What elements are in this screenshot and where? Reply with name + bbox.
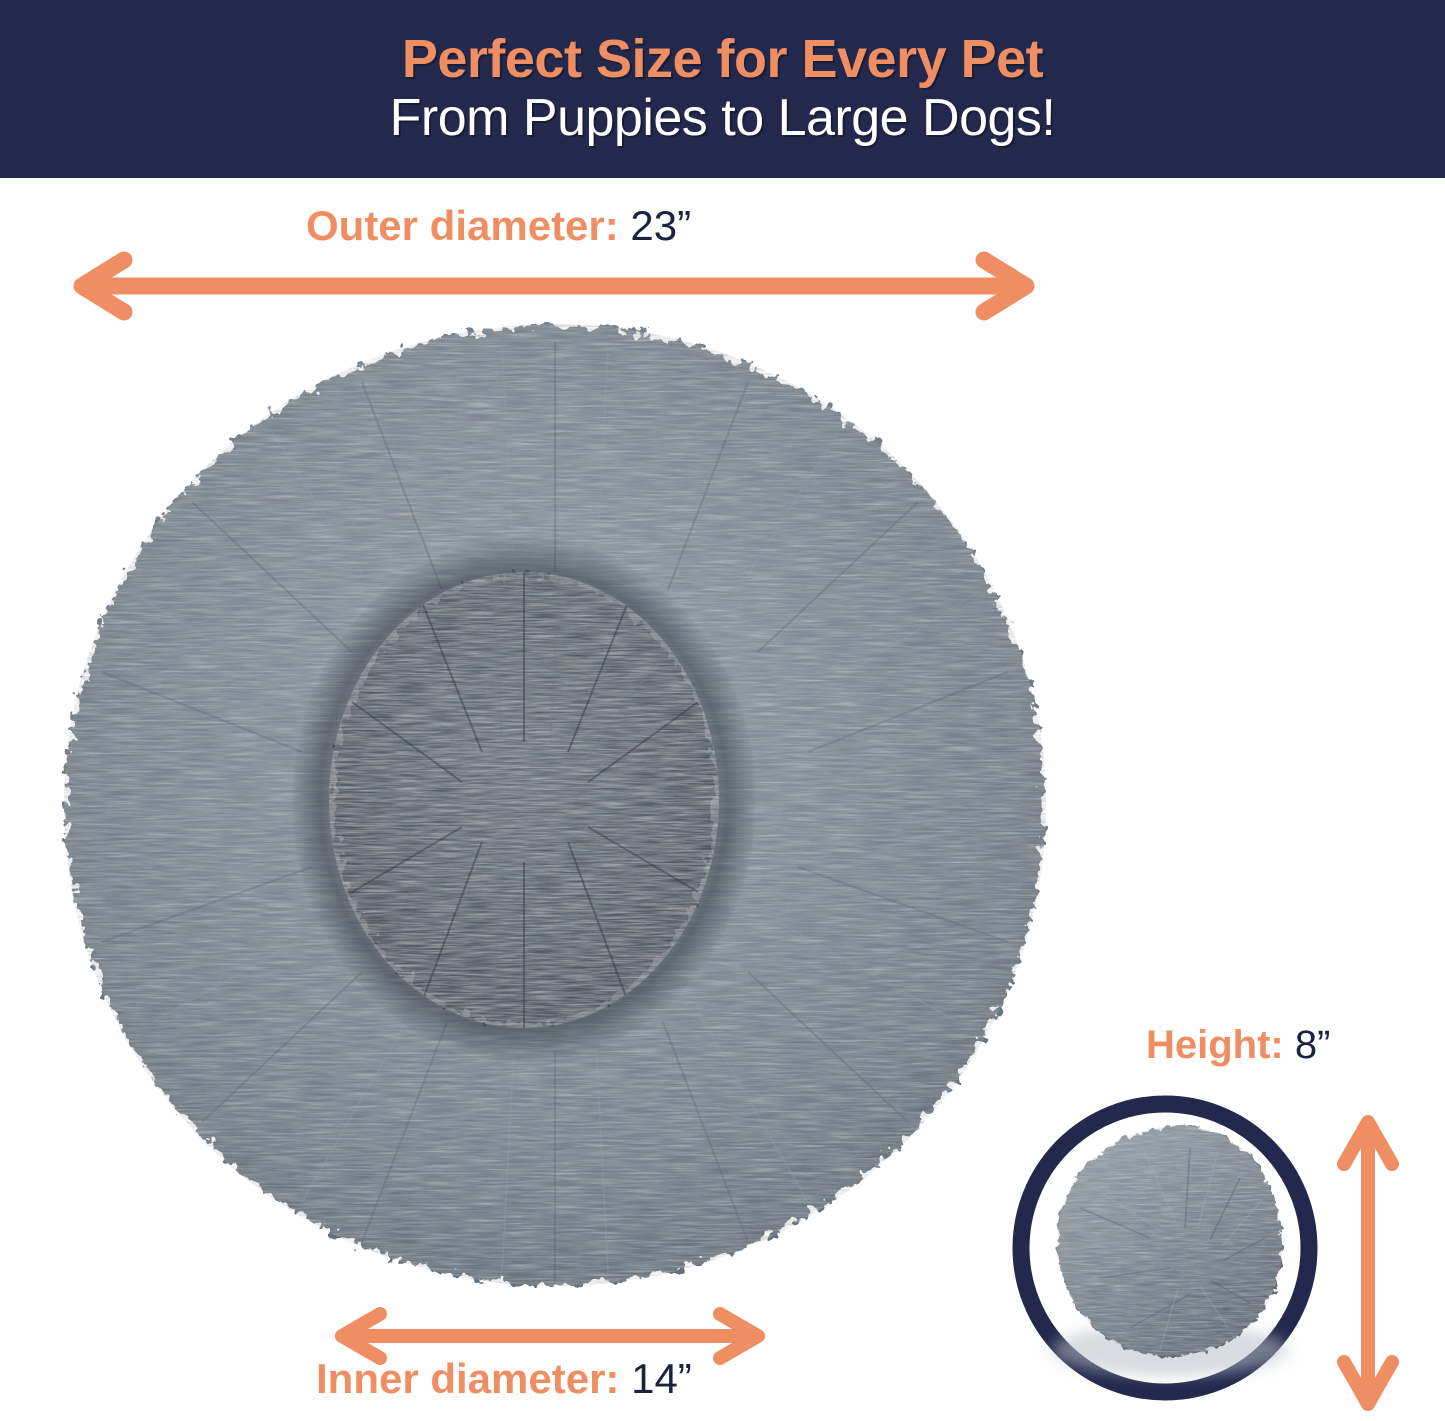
pet-bed-side-view-inset <box>1010 1088 1320 1408</box>
pet-bed-top-view-graphic <box>62 322 1048 1288</box>
height-value: 8” <box>1295 1023 1331 1067</box>
outer-diameter-label-text: Outer diameter: <box>306 202 619 249</box>
pet-bed-side-view-graphic <box>1010 1088 1320 1408</box>
height-label: Height: 8” <box>1146 1025 1330 1065</box>
height-arrow-icon <box>1336 1112 1400 1414</box>
height-label-text: Height: <box>1146 1023 1284 1067</box>
inner-diameter-label: Inner diameter: 14” <box>316 1358 692 1400</box>
inner-diameter-value: 14” <box>631 1355 692 1402</box>
page-title: Perfect Size for Every Pet <box>402 31 1043 88</box>
page-subtitle: From Puppies to Large Dogs! <box>390 90 1056 147</box>
infographic-page: Perfect Size for Every Pet From Puppies … <box>0 0 1445 1421</box>
outer-diameter-value: 23” <box>630 202 691 249</box>
pet-bed-top-view <box>62 322 1048 1288</box>
inner-diameter-label-text: Inner diameter: <box>316 1355 619 1402</box>
outer-diameter-label: Outer diameter: 23” <box>306 205 691 247</box>
header-banner: Perfect Size for Every Pet From Puppies … <box>0 0 1445 178</box>
outer-diameter-arrow-icon <box>66 258 1042 314</box>
